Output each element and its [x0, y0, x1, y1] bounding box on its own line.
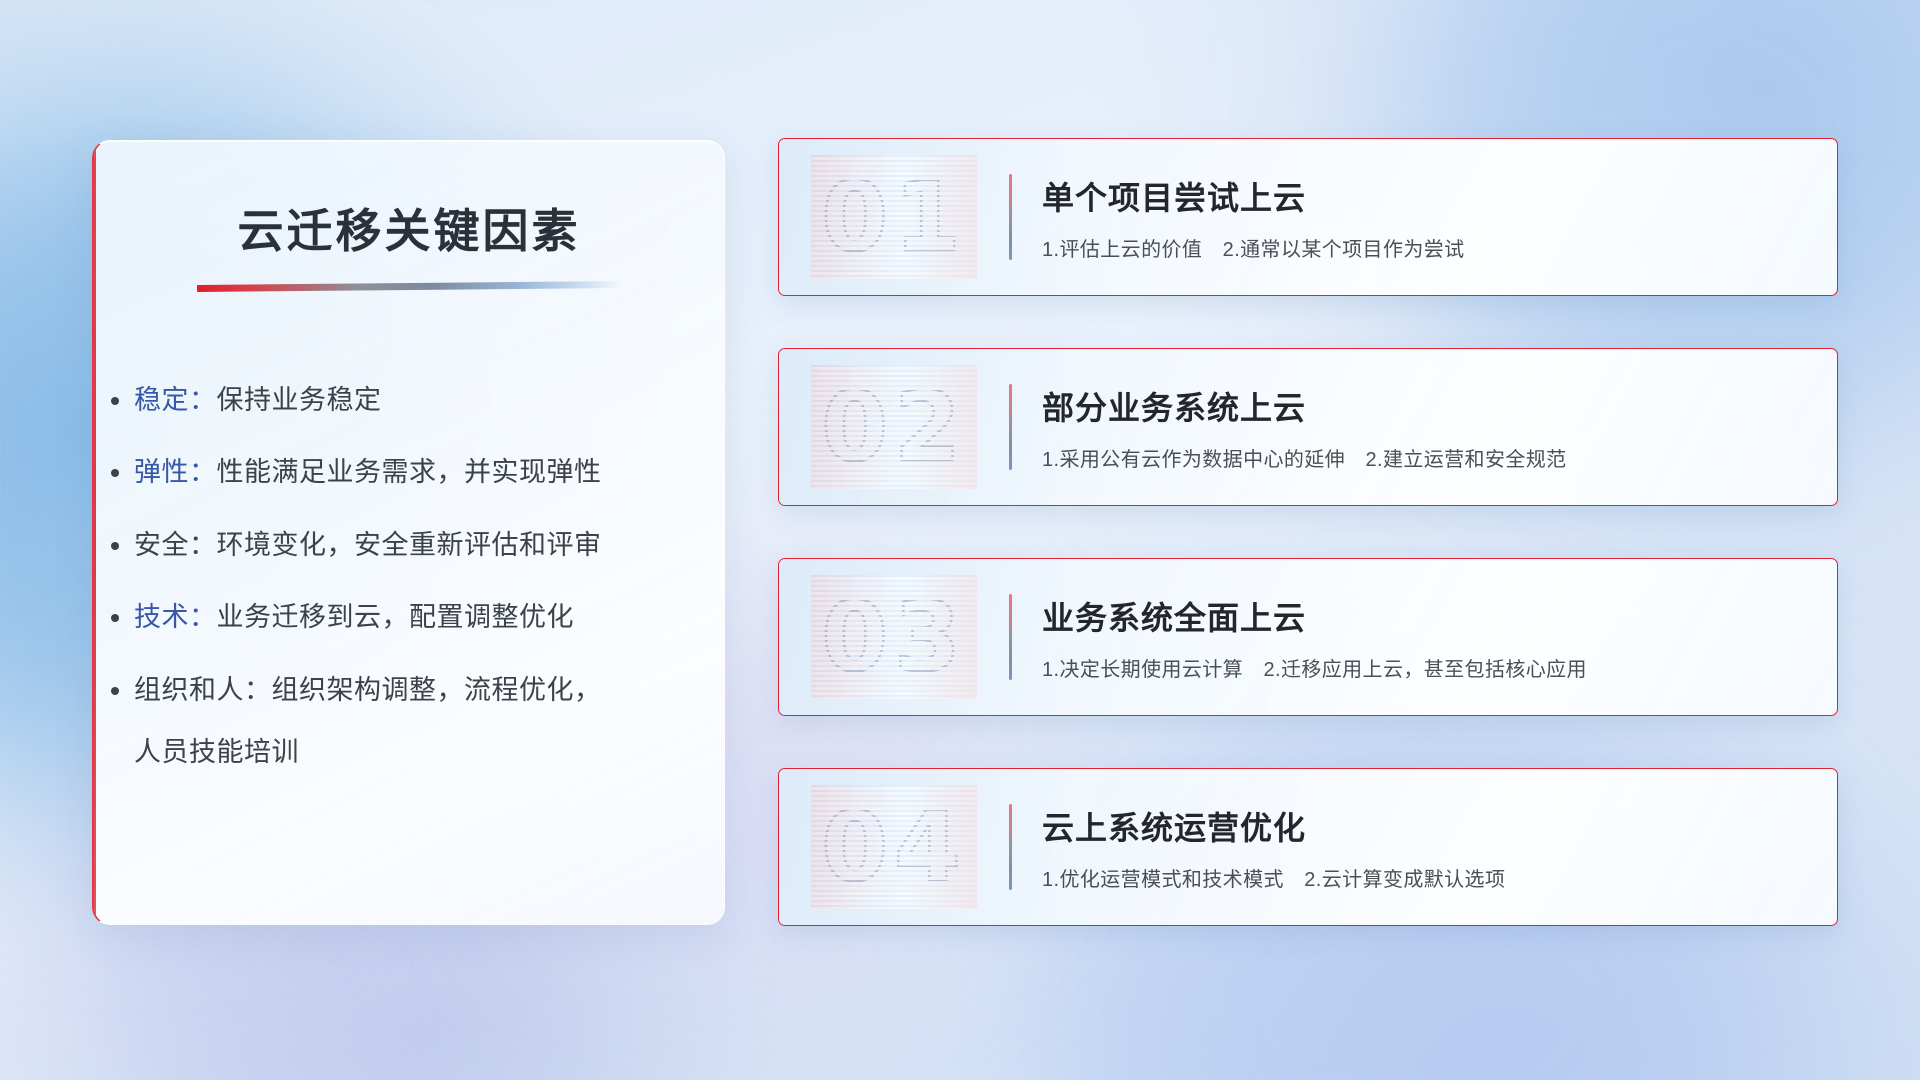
- key-factor-text: 组织架构调整，流程优化，: [272, 675, 602, 705]
- key-factor-item: 技术：业务迁移到云，配置调整优化: [134, 599, 684, 635]
- title-underline-gradient: [197, 281, 622, 292]
- stage-card-title: 业务系统全面上云: [1042, 593, 1587, 639]
- gradient-divider-bar: [1009, 594, 1012, 680]
- stage-card[interactable]: 04云上系统运营优化1.优化运营模式和技术模式 2.云计算变成默认选项: [778, 768, 1838, 926]
- stage-card[interactable]: 02部分业务系统上云1.采用公有云作为数据中心的延伸 2.建立运营和安全规范: [778, 348, 1838, 506]
- stage-card-title: 部分业务系统上云: [1042, 383, 1567, 429]
- stage-number-text: 02: [821, 379, 967, 475]
- key-factor-text: 业务迁移到云，配置调整优化: [217, 602, 575, 632]
- key-factor-item: 安全：环境变化，安全重新评估和评审: [134, 527, 684, 563]
- slide-stage: 云迁移关键因素 稳定：保持业务稳定弹性：性能满足业务需求，并实现弹性安全：环境变…: [0, 0, 1920, 1080]
- key-factor-item: 组织和人：组织架构调整，流程优化，人员技能培训: [134, 672, 684, 771]
- stage-card[interactable]: 01单个项目尝试上云1.评估上云的价值 2.通常以某个项目作为尝试: [778, 138, 1838, 296]
- stage-card-title: 单个项目尝试上云: [1042, 173, 1465, 219]
- key-factors-list: 稳定：保持业务稳定弹性：性能满足业务需求，并实现弹性安全：环境变化，安全重新评估…: [94, 382, 724, 771]
- gradient-divider-bar: [1009, 804, 1012, 890]
- key-factor-text: 保持业务稳定: [217, 385, 382, 415]
- key-factor-label: 技术：: [134, 602, 217, 632]
- stage-number-text: 01: [821, 169, 967, 265]
- stage-card-title: 云上系统运营优化: [1042, 803, 1505, 849]
- key-factor-text: 环境变化，安全重新评估和评审: [217, 530, 602, 560]
- key-factors-panel: 云迁移关键因素 稳定：保持业务稳定弹性：性能满足业务需求，并实现弹性安全：环境变…: [92, 140, 725, 925]
- stage-card-body: 业务系统全面上云1.决定长期使用云计算 2.迁移应用上云，甚至包括核心应用: [1042, 593, 1613, 682]
- stage-card-body: 单个项目尝试上云1.评估上云的价值 2.通常以某个项目作为尝试: [1042, 173, 1491, 262]
- stage-number-badge: 01: [779, 139, 1009, 295]
- gradient-divider-bar: [1009, 384, 1012, 470]
- key-factor-label: 弹性：: [134, 457, 217, 487]
- key-factor-text: 性能满足业务需求，并实现弹性: [217, 457, 602, 487]
- stage-card-description: 1.优化运营模式和技术模式 2.云计算变成默认选项: [1042, 863, 1505, 892]
- stage-number-badge: 03: [779, 559, 1009, 715]
- stage-card-description: 1.评估上云的价值 2.通常以某个项目作为尝试: [1042, 233, 1465, 262]
- key-factor-label: 稳定：: [134, 385, 217, 415]
- stage-number-badge: 02: [779, 349, 1009, 505]
- gradient-divider-bar: [1009, 174, 1012, 260]
- stage-card-body: 云上系统运营优化1.优化运营模式和技术模式 2.云计算变成默认选项: [1042, 803, 1531, 892]
- stage-number-text: 04: [821, 799, 967, 895]
- stage-card[interactable]: 03业务系统全面上云1.决定长期使用云计算 2.迁移应用上云，甚至包括核心应用: [778, 558, 1838, 716]
- key-factor-label: 组织和人：: [134, 675, 272, 705]
- stage-card-body: 部分业务系统上云1.采用公有云作为数据中心的延伸 2.建立运营和安全规范: [1042, 383, 1593, 472]
- key-factor-item: 稳定：保持业务稳定: [134, 382, 684, 418]
- migration-stage-cards: 01单个项目尝试上云1.评估上云的价值 2.通常以某个项目作为尝试02部分业务系…: [778, 138, 1838, 926]
- stage-number-text: 03: [821, 589, 967, 685]
- stage-card-description: 1.决定长期使用云计算 2.迁移应用上云，甚至包括核心应用: [1042, 653, 1587, 682]
- stage-number-badge: 04: [779, 769, 1009, 925]
- key-factor-item: 弹性：性能满足业务需求，并实现弹性: [134, 454, 684, 490]
- key-factor-text-continued: 人员技能培训: [134, 734, 684, 770]
- key-factor-label: 安全：: [134, 530, 217, 560]
- page-title: 云迁移关键因素: [94, 195, 724, 261]
- stage-card-description: 1.采用公有云作为数据中心的延伸 2.建立运营和安全规范: [1042, 443, 1567, 472]
